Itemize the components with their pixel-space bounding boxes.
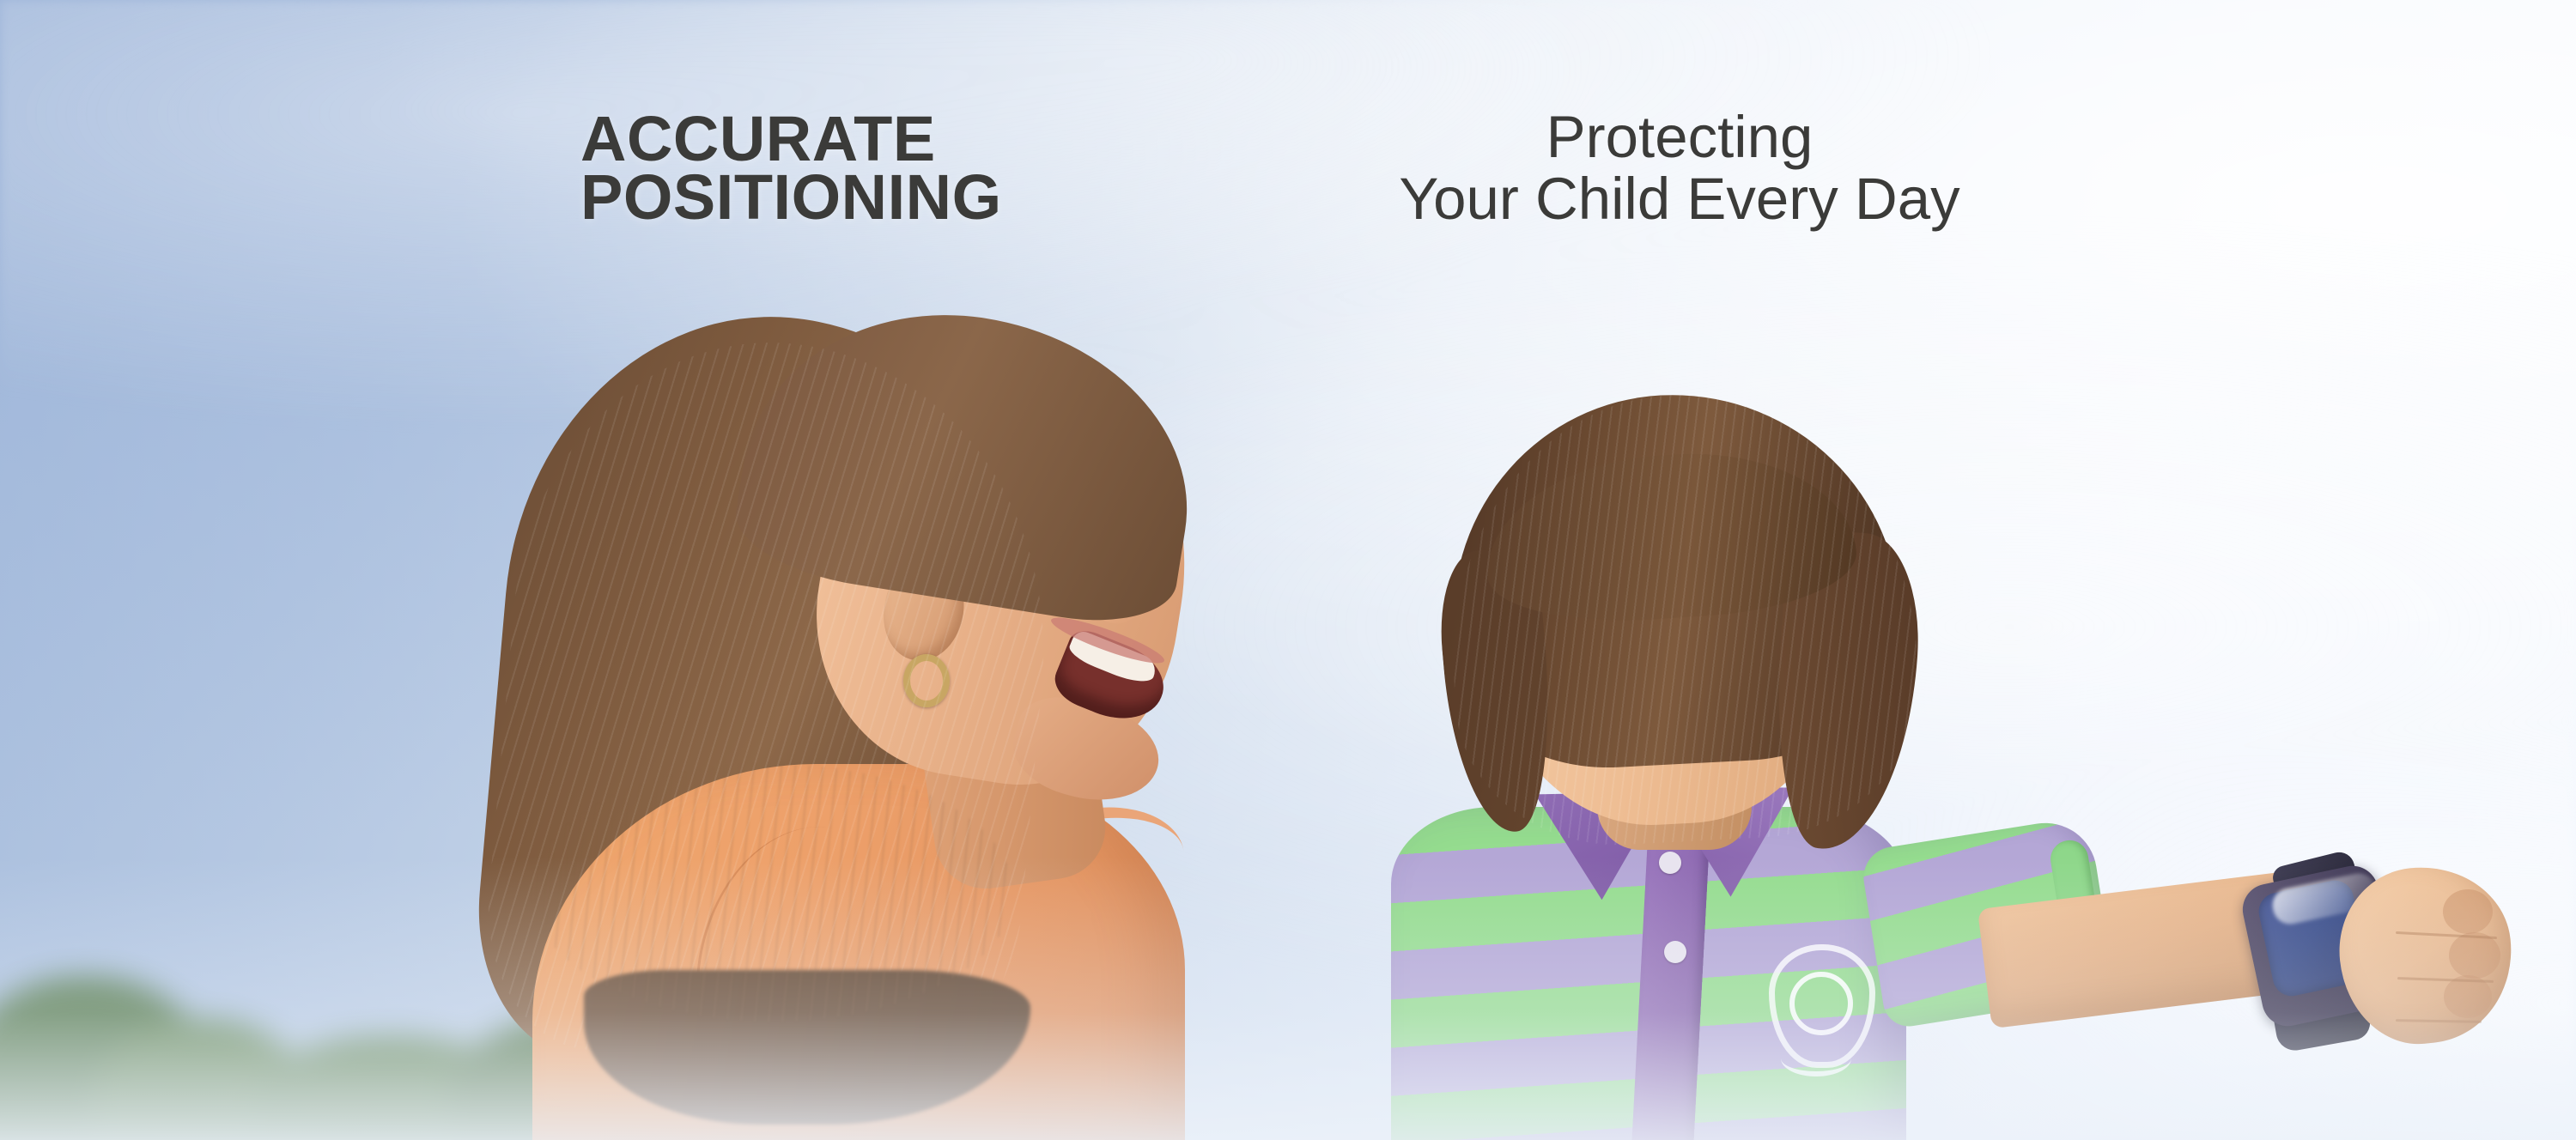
boy-hair-strands xyxy=(1440,383,1926,853)
headline-accurate-positioning: ACCURATE POSITIONING xyxy=(580,110,1002,227)
bottom-atmosphere-haze xyxy=(0,857,2576,1140)
headline-protecting-your-child: Protecting Your Child Every Day xyxy=(1355,106,2004,230)
hero-banner: ACCURATE POSITIONING Protecting Your Chi… xyxy=(0,0,2576,1140)
